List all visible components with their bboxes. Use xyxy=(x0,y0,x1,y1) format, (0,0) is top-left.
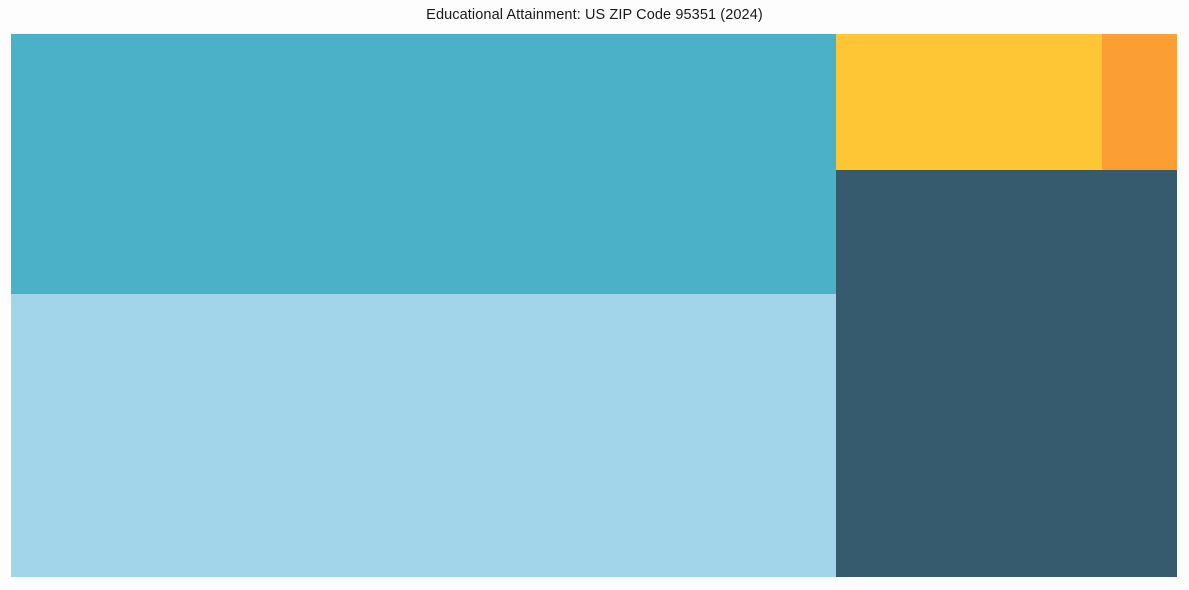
treemap-tile-high-school-graduate[interactable]: High school graduate (or equivalent) xyxy=(11,34,836,294)
treemap-tile-graduate-professional-degree[interactable]: Graduate or professional degree xyxy=(1102,34,1177,170)
treemap-tile-less-than-high-school[interactable]: Less than high school diploma xyxy=(11,294,836,577)
treemap-figure: Educational Attainment: US ZIP Code 9535… xyxy=(0,0,1189,590)
page-title: Educational Attainment: US ZIP Code 9535… xyxy=(0,0,1189,30)
treemap-plot-area: High school graduate (or equivalent) Les… xyxy=(11,34,1177,577)
treemap-tile-some-college-no-degree[interactable]: Some college, no degree xyxy=(836,170,1177,577)
treemap-tile-bachelors-degree[interactable]: Bachelor's degree xyxy=(836,34,1102,170)
